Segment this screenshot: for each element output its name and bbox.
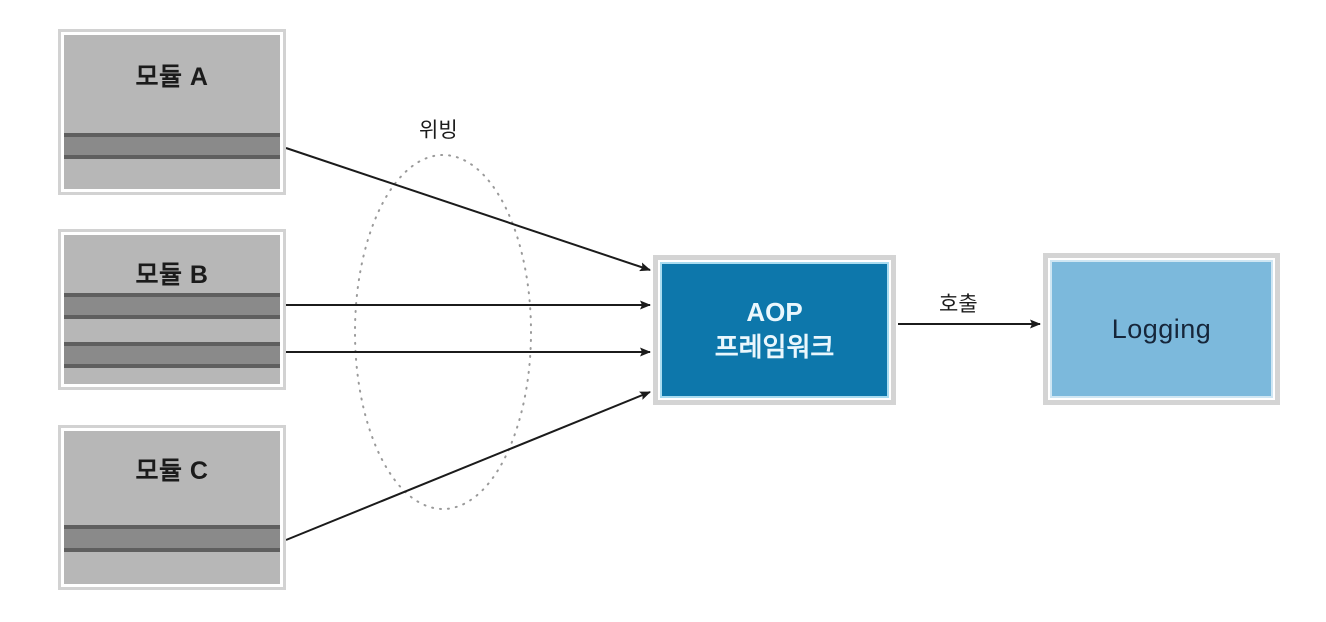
connector-module-c-to-aop bbox=[286, 392, 650, 540]
module-b-stripe-1 bbox=[64, 293, 280, 319]
weaving-ellipse bbox=[355, 155, 531, 509]
module-c-stripe-1 bbox=[64, 525, 280, 552]
aop-framework-title-line1: AOP bbox=[746, 295, 802, 330]
module-a-stripe-1 bbox=[64, 133, 280, 159]
module-b-title: 모듈 B bbox=[64, 255, 280, 291]
module-box-b[interactable]: 모듈 B bbox=[58, 229, 286, 390]
module-b-body: 모듈 B bbox=[64, 235, 280, 384]
diagram-canvas: 모듈 A 모듈 B 모듈 C AOP 프레임워크 Logging 위빙 호출 bbox=[0, 0, 1326, 622]
aop-framework-title-line2: 프레임워크 bbox=[715, 330, 835, 365]
logging-box[interactable]: Logging bbox=[1043, 253, 1280, 405]
module-a-title: 모듈 A bbox=[64, 57, 280, 93]
module-box-c[interactable]: 모듈 C bbox=[58, 425, 286, 590]
module-c-body: 모듈 C bbox=[64, 431, 280, 584]
module-a-body: 모듈 A bbox=[64, 35, 280, 189]
aop-framework-body: AOP 프레임워크 bbox=[660, 262, 889, 398]
module-c-title: 모듈 C bbox=[64, 451, 280, 487]
module-b-stripe-2 bbox=[64, 342, 280, 368]
logging-body: Logging bbox=[1050, 260, 1273, 398]
aop-framework-box[interactable]: AOP 프레임워크 bbox=[653, 255, 896, 405]
call-label: 호출 bbox=[939, 288, 978, 318]
weaving-label: 위빙 bbox=[419, 114, 458, 144]
module-box-a[interactable]: 모듈 A bbox=[58, 29, 286, 195]
connector-module-a-to-aop bbox=[286, 148, 650, 270]
logging-label: Logging bbox=[1112, 314, 1212, 345]
